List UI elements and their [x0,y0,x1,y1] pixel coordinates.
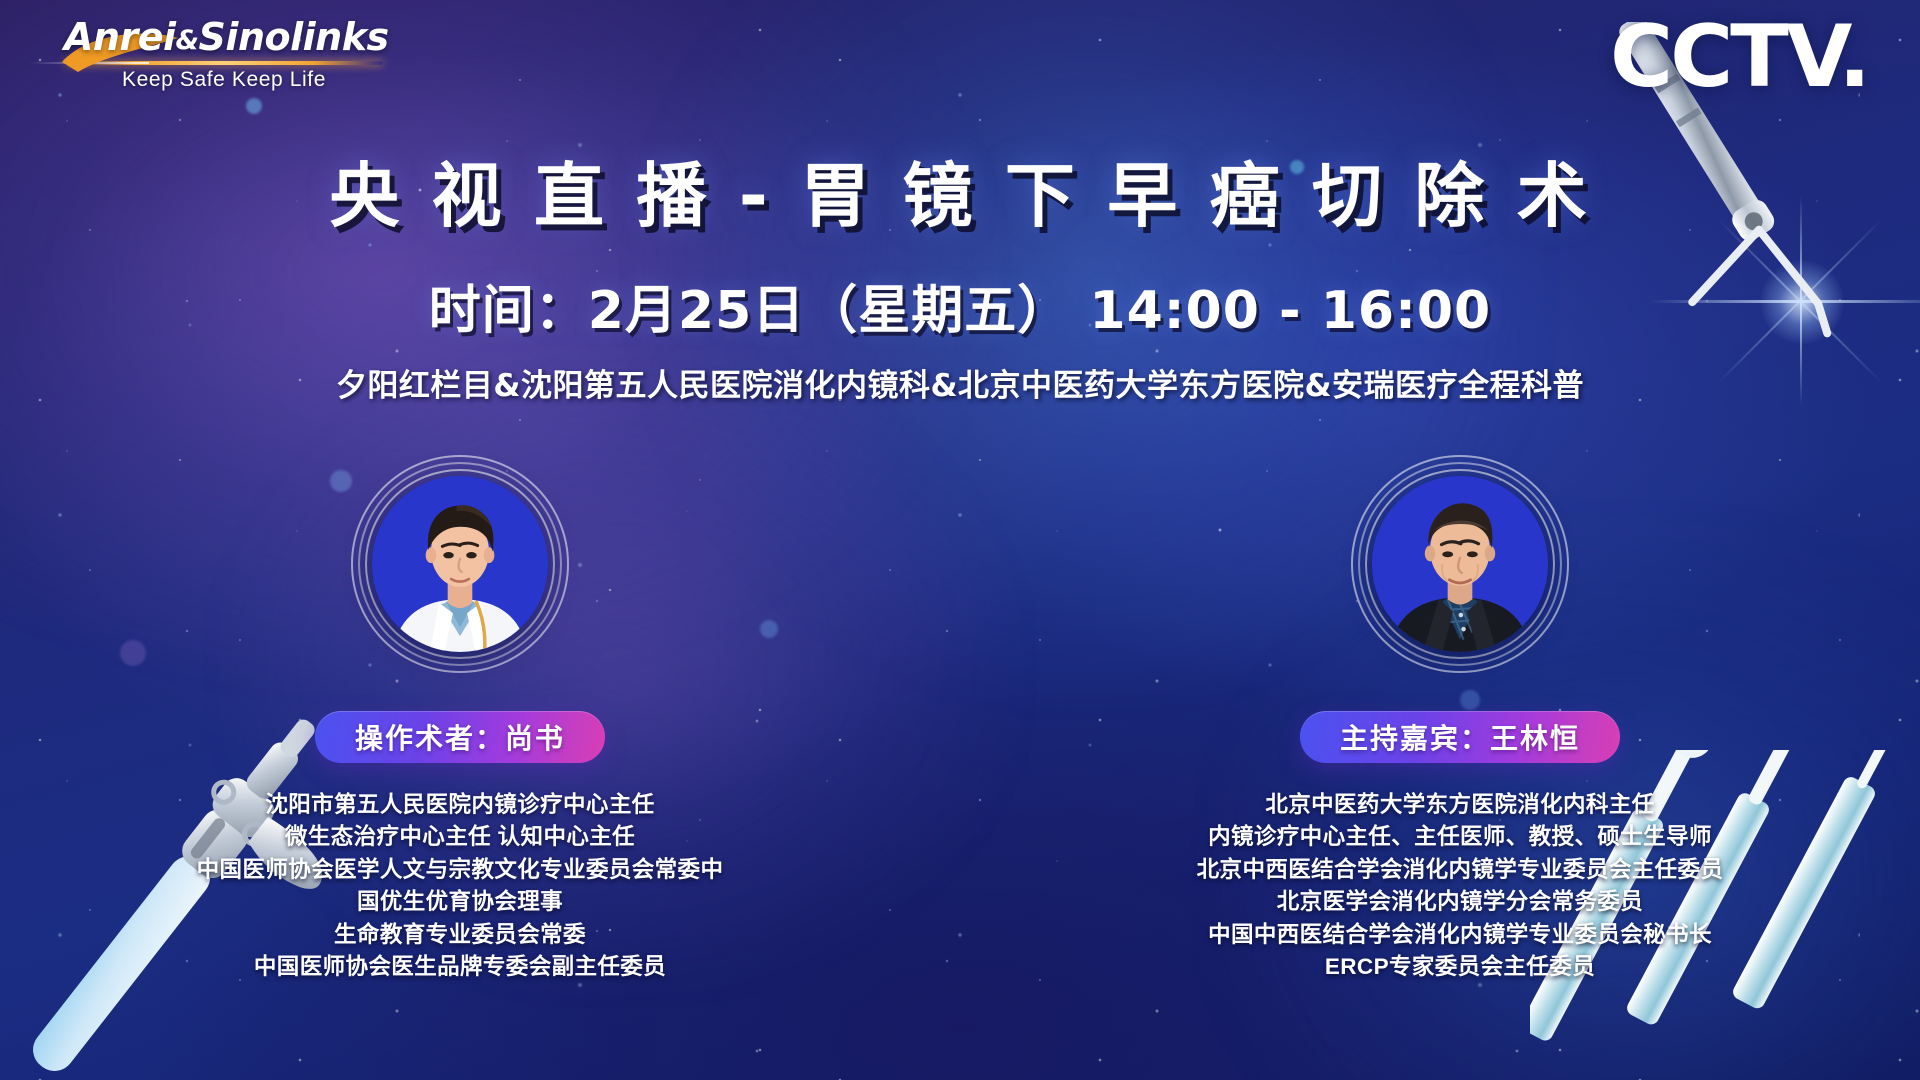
credential-line: 中国医师协会医生品牌专委会副主任委员 [197,951,724,983]
brand-wordmark: Anrei&Sinolinks [64,18,384,56]
portrait-host-dark-jacket-icon [1372,476,1548,652]
speaker-card-operator: 操作术者：尚书 沈阳市第五人民医院内镜诊疗中心主任 微生态治疗中心主任 认知中心… [150,455,770,1075]
avatar-photo-host [1372,476,1548,652]
avatar-photo-operator [372,476,548,652]
page-title: 央 视 直 播 - 胃 镜 下 早 癌 切 除 术 [0,140,1920,241]
speakers-row: 操作术者：尚书 沈阳市第五人民医院内镜诊疗中心主任 微生态治疗中心主任 认知中心… [0,455,1920,1075]
portrait-doctor-white-coat-icon [372,476,548,652]
credential-line: 北京中西医结合学会消化内镜学专业委员会主任委员 [1197,854,1724,886]
brand-name-part2: Sinolinks [199,15,389,59]
bokeh-dot [246,98,262,114]
credential-line: 沈阳市第五人民医院内镜诊疗中心主任 [197,789,724,821]
anrei-sinolinks-logo: Anrei&Sinolinks Keep Safe Keep Life [64,18,384,92]
credential-line: 内镜诊疗中心主任、主任医师、教授、硕士生导师 [1197,821,1724,853]
partners-line: 夕阳红栏目&沈阳第五人民医院消化内镜科&北京中医药大学东方医院&安瑞医疗全程科普 [0,360,1920,405]
brand-tagline: Keep Safe Keep Life [64,68,384,92]
credential-line: 国优生优育协会理事 [197,886,724,918]
credential-line: 微生态治疗中心主任 认知中心主任 [197,821,724,853]
credential-line: 中国中西医结合学会消化内镜学专业委员会秘书长 [1197,919,1724,951]
event-datetime: 时间：2月25日（星期五） 14:00 - 16:00 [0,268,1920,343]
credential-line: 北京医学会消化内镜学分会常务委员 [1197,886,1724,918]
brand-ampersand: & [176,25,199,56]
credential-line: 中国医师协会医学人文与宗教文化专业委员会常委中 [197,854,724,886]
credential-line: 生命教育专业委员会常委 [197,919,724,951]
credentials-operator: 沈阳市第五人民医院内镜诊疗中心主任 微生态治疗中心主任 认知中心主任 中国医师协… [197,789,724,983]
credential-line: ERCP专家委员会主任委员 [1197,951,1724,983]
credential-line: 北京中医药大学东方医院消化内科主任 [1197,789,1724,821]
avatar [1351,455,1569,673]
credentials-host: 北京中医药大学东方医院消化内科主任 内镜诊疗中心主任、主任医师、教授、硕士生导师… [1197,789,1724,983]
avatar [351,455,569,673]
role-badge-host: 主持嘉宾：王林恒 [1300,711,1620,763]
brand-divider-rule [65,61,383,65]
brand-name-part1: Anrei [64,15,176,59]
speaker-card-host: 主持嘉宾：王林恒 北京中医药大学东方医院消化内科主任 内镜诊疗中心主任、主任医师… [1150,455,1770,1075]
role-badge-operator: 操作术者：尚书 [315,711,605,763]
poster-canvas: Anrei&Sinolinks Keep Safe Keep Life CCTV… [0,0,1920,1080]
cctv-logo: CCTV. [1610,14,1868,100]
